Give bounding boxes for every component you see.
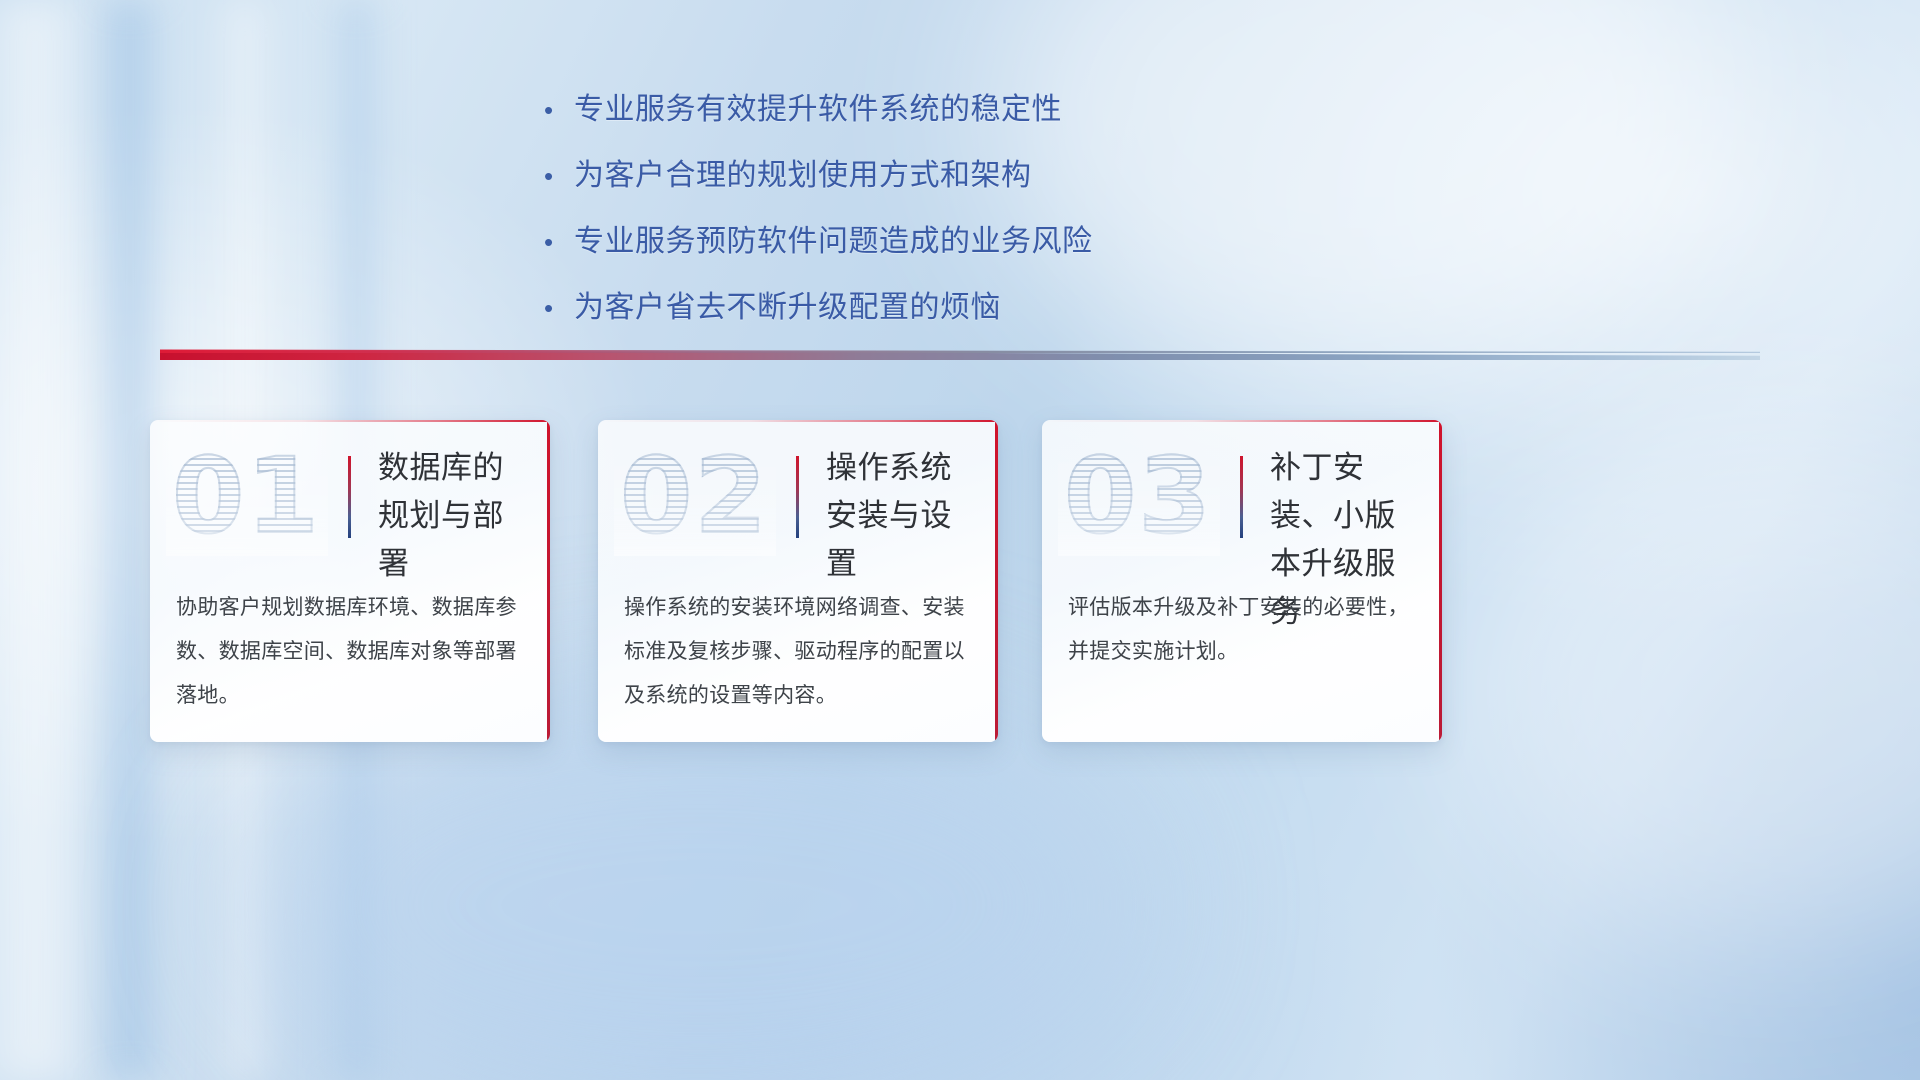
- service-card-01[interactable]: 01 数据库的规划与部署 协助客户规划数据库环境、数据库参数、数据库空间、数据库…: [150, 420, 550, 742]
- bullet-dot-icon: •: [540, 154, 574, 198]
- card-accent-bar: [348, 456, 351, 538]
- card-body-text: 协助客户规划数据库环境、数据库参数、数据库空间、数据库对象等部署落地。: [176, 586, 528, 718]
- list-item: • 为客户省去不断升级配置的烦恼: [540, 286, 1360, 330]
- bullet-text: 专业服务预防软件问题造成的业务风险: [574, 220, 1093, 264]
- card-number-01: 01: [172, 442, 322, 550]
- list-item: • 专业服务预防软件问题造成的业务风险: [540, 220, 1360, 264]
- service-card-03[interactable]: 03 补丁安装、小版本升级服务 评估版本升级及补丁安装的必要性，并提交实施计划。: [1042, 420, 1442, 742]
- section-divider: [160, 348, 1760, 364]
- list-item: • 为客户合理的规划使用方式和架构: [540, 154, 1360, 198]
- divider-line-highlight: [160, 348, 1760, 353]
- bullet-text: 专业服务有效提升软件系统的稳定性: [574, 88, 1062, 132]
- card-title: 操作系统安装与设置: [826, 444, 982, 588]
- slide-canvas: • 专业服务有效提升软件系统的稳定性 • 为客户合理的规划使用方式和架构 • 专…: [0, 0, 1920, 1080]
- card-header: 02 操作系统安装与设置: [598, 420, 998, 588]
- background-light-streak-1: [0, 0, 100, 1080]
- service-card-group: 01 数据库的规划与部署 协助客户规划数据库环境、数据库参数、数据库空间、数据库…: [150, 420, 1770, 745]
- card-accent-bar: [1240, 456, 1243, 538]
- benefit-bullet-list: • 专业服务有效提升软件系统的稳定性 • 为客户合理的规划使用方式和架构 • 专…: [540, 88, 1360, 352]
- bullet-dot-icon: •: [540, 88, 574, 132]
- bullet-text: 为客户省去不断升级配置的烦恼: [574, 286, 1001, 330]
- bullet-dot-icon: •: [540, 220, 574, 264]
- card-number-03: 03: [1064, 442, 1214, 550]
- card-title: 数据库的规划与部署: [378, 444, 534, 588]
- list-item: • 专业服务有效提升软件系统的稳定性: [540, 88, 1360, 132]
- card-body-text: 评估版本升级及补丁安装的必要性，并提交实施计划。: [1068, 586, 1420, 674]
- service-card-02[interactable]: 02 操作系统安装与设置 操作系统的安装环境网络调查、安装标准及复核步骤、驱动程…: [598, 420, 998, 742]
- card-number-02: 02: [620, 442, 770, 550]
- card-body-text: 操作系统的安装环境网络调查、安装标准及复核步骤、驱动程序的配置以及系统的设置等内…: [624, 586, 976, 718]
- bullet-dot-icon: •: [540, 286, 574, 330]
- card-header: 01 数据库的规划与部署: [150, 420, 550, 588]
- card-accent-bar: [796, 456, 799, 538]
- background-glow-bottom: [250, 690, 1150, 1080]
- card-header: 03 补丁安装、小版本升级服务: [1042, 420, 1442, 588]
- bullet-text: 为客户合理的规划使用方式和架构: [574, 154, 1032, 198]
